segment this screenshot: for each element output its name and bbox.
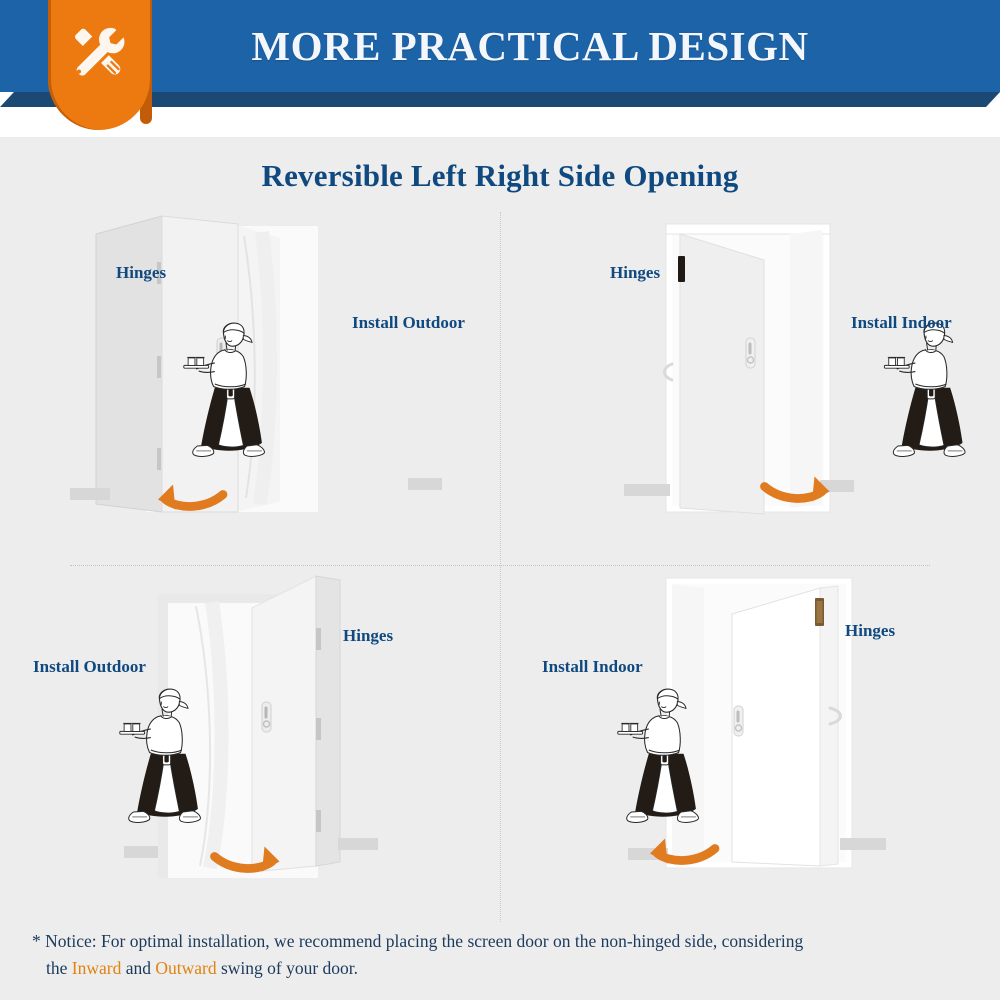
footer-highlight-inward: Inward bbox=[72, 958, 122, 978]
label-hinges-top-right: Hinges bbox=[610, 263, 660, 283]
section-title: Reversible Left Right Side Opening bbox=[0, 158, 1000, 194]
tools-badge bbox=[48, 0, 150, 130]
door-handle-icon bbox=[734, 706, 743, 736]
footer-line-1: * Notice: For optimal installation, we r… bbox=[32, 931, 803, 951]
label-install-bottom-right: Install Indoor bbox=[542, 657, 643, 677]
hinge-marker bbox=[316, 810, 321, 832]
diagram-top-left: Hinges Install Outdoor bbox=[0, 212, 500, 564]
label-install-top-left: Install Outdoor bbox=[352, 313, 465, 333]
wrench-screwdriver-icon bbox=[66, 20, 132, 86]
hinge-marker bbox=[316, 718, 321, 740]
label-hinges-bottom-right: Hinges bbox=[845, 621, 895, 641]
door-scene-top-left bbox=[0, 212, 500, 564]
footer-line-2a: the bbox=[46, 958, 72, 978]
label-install-bottom-left: Install Outdoor bbox=[33, 657, 146, 677]
footer-notice: * Notice: For optimal installation, we r… bbox=[32, 928, 977, 982]
footer-highlight-outward: Outward bbox=[155, 958, 216, 978]
footer-line-2b: and bbox=[121, 958, 155, 978]
diagram-top-right: Hinges Install Indoor bbox=[500, 212, 1000, 564]
hinge-marker bbox=[678, 256, 685, 282]
person-illustration bbox=[884, 323, 965, 456]
door-scene-bottom-right bbox=[500, 566, 1000, 918]
label-hinges-top-left: Hinges bbox=[116, 263, 166, 283]
label-install-top-right: Install Indoor bbox=[851, 313, 952, 333]
door-handle-icon bbox=[746, 338, 755, 368]
door-scene-top-right bbox=[500, 212, 1000, 564]
door-scene-bottom-left bbox=[0, 566, 500, 918]
product-infographic-page: MORE PRACTICAL DESIGN Reversible Left Ri… bbox=[0, 0, 1000, 1000]
hinge-marker bbox=[316, 628, 321, 650]
diagram-bottom-left: Install Outdoor Hinges bbox=[0, 566, 500, 918]
label-hinges-bottom-left: Hinges bbox=[343, 626, 393, 646]
footer-line-2c: swing of your door. bbox=[217, 958, 358, 978]
hinge-marker bbox=[157, 356, 161, 378]
wrench-pivot-dot bbox=[77, 70, 81, 74]
hinge-marker bbox=[157, 448, 161, 470]
diagram-bottom-right: Install Indoor Hinges bbox=[500, 566, 1000, 918]
door-handle-icon bbox=[262, 702, 271, 732]
